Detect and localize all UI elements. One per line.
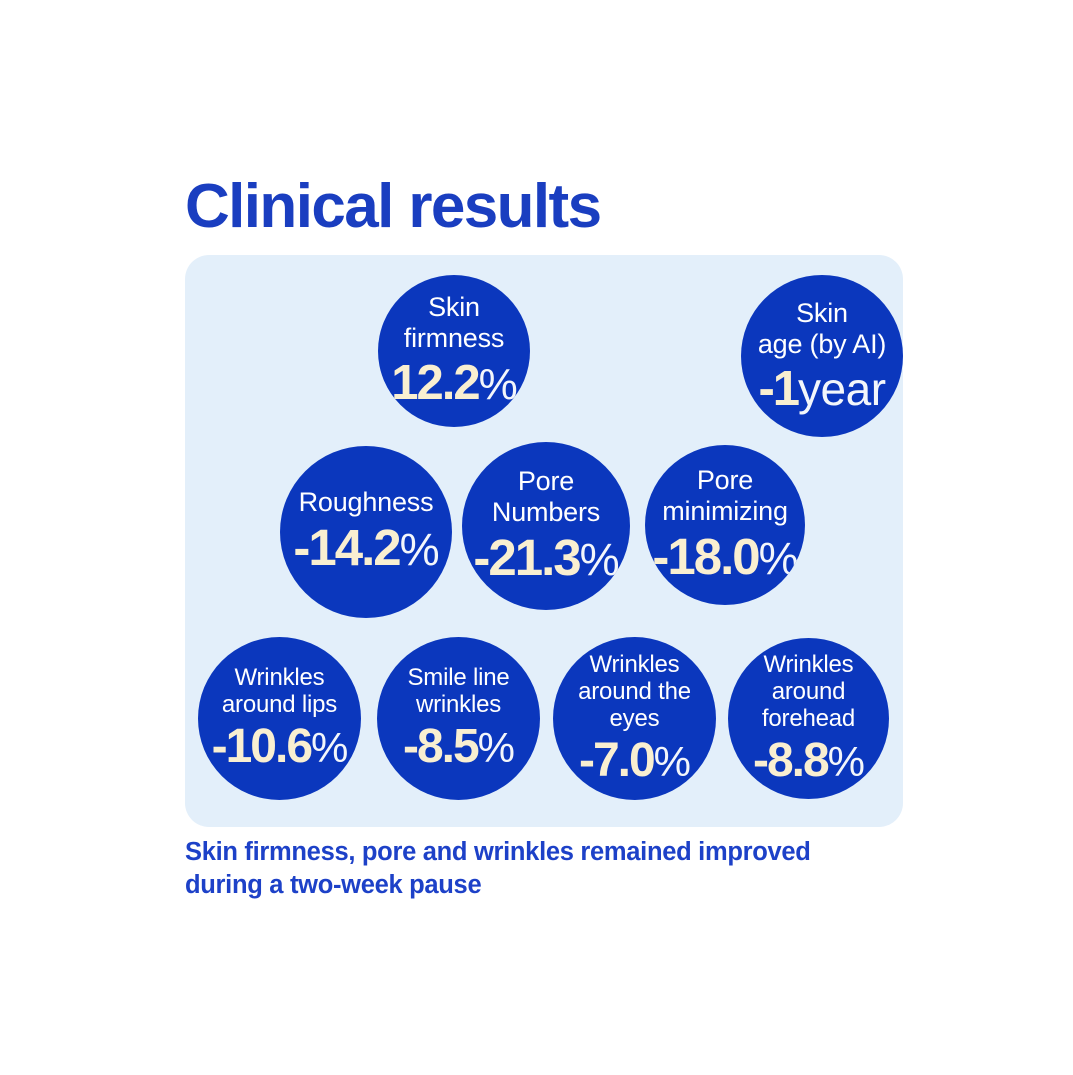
metric-label-line2: minimizing [662,496,788,526]
metric-label: Pore minimizing [656,465,794,527]
metric-label: Wrinkles around lips [216,664,343,718]
metric-label: Smile line wrinkles [401,664,515,718]
metric-value-number: -8.8 [753,734,828,787]
metric-value-number: -21.3 [473,529,579,586]
metric-value: -10.6% [212,721,348,773]
caption-line-2: during a two-week pause [185,869,885,902]
metric-circle-roughness: Roughness -14.2% [280,446,452,618]
clinical-results-infographic: Clinical results Skin firmness 12.2% Ski… [0,0,1073,1075]
metric-circle-wrinkles-around-lips: Wrinkles around lips -10.6% [198,637,361,800]
metric-value-number: -7.0 [579,734,654,787]
metric-label-line2: around [772,678,846,705]
metric-value-number: -1 [758,362,798,416]
metric-label-line1: Wrinkles [590,651,680,678]
metric-label-line1: Skin [796,298,848,328]
metric-label-line1: Wrinkles [764,651,854,678]
panel-caption: Skin firmness, pore and wrinkles remaine… [185,836,885,902]
metric-value-unit: % [828,738,864,785]
metric-value: 12.2% [391,357,517,411]
metric-value-unit: % [759,533,798,584]
metric-circle-pore-minimizing: Pore minimizing -18.0% [645,445,805,605]
metric-label-line1: Pore [697,465,753,495]
metric-value-unit: % [400,524,439,575]
metric-circle-smile-line-wrinkles: Smile line wrinkles -8.5% [377,637,540,800]
metric-label: Skin age (by AI) [752,298,892,360]
metric-value: -7.0% [579,735,690,787]
metric-circle-wrinkles-around-forehead: Wrinkles around forehead -8.8% [728,638,889,799]
metric-value: -8.5% [403,721,514,773]
metric-label-line2: around the [578,678,691,705]
metric-value: -21.3% [473,531,618,587]
metric-label-line2: wrinkles [416,691,501,718]
metric-label-line3: eyes [610,705,660,732]
metric-value-unit: % [479,360,517,409]
metric-value-number: 12.2 [391,356,478,410]
metric-value-number: -18.0 [652,528,758,585]
metric-label: Roughness [293,487,440,518]
page-title: Clinical results [185,170,600,244]
metric-value-number: -14.2 [293,519,399,576]
results-panel: Skin firmness 12.2% Skin age (by AI) -1y… [185,255,903,827]
metric-label-line1: Pore [518,466,574,496]
metric-label-line1: Wrinkles [235,664,325,691]
metric-value-unit: % [478,724,514,771]
metric-label-line1: Roughness [299,487,434,517]
metric-label: Skin firmness [398,292,510,354]
metric-value: -18.0% [652,530,797,586]
metric-value: -14.2% [293,521,438,577]
metric-circle-skin-age: Skin age (by AI) -1year [741,275,903,437]
metric-value-unit: year [798,363,885,415]
metric-label: Wrinkles around forehead [756,651,861,732]
metric-value-unit: % [311,724,347,771]
metric-label-line3: forehead [762,705,855,732]
metric-value: -8.8% [753,735,864,787]
metric-label-line2: age (by AI) [758,329,886,359]
metric-value-number: -10.6 [212,720,311,773]
metric-label-line2: around lips [222,691,337,718]
metric-label: Pore Numbers [486,466,606,528]
metric-value-unit: % [654,738,690,785]
metric-label-line1: Skin [428,292,480,322]
metric-label-line2: Numbers [492,497,600,527]
caption-line-1: Skin firmness, pore and wrinkles remaine… [185,836,885,869]
metric-circle-pore-numbers: Pore Numbers -21.3% [462,442,630,610]
metric-label-line2: firmness [404,323,504,353]
metric-value: -1year [758,363,885,415]
metric-label-line1: Smile line [407,664,509,691]
metric-label: Wrinkles around the eyes [572,651,697,732]
metric-value-unit: % [580,534,619,585]
metric-value-number: -8.5 [403,720,478,773]
metric-circle-skin-firmness: Skin firmness 12.2% [378,275,530,427]
metric-circle-wrinkles-around-eyes: Wrinkles around the eyes -7.0% [553,637,716,800]
